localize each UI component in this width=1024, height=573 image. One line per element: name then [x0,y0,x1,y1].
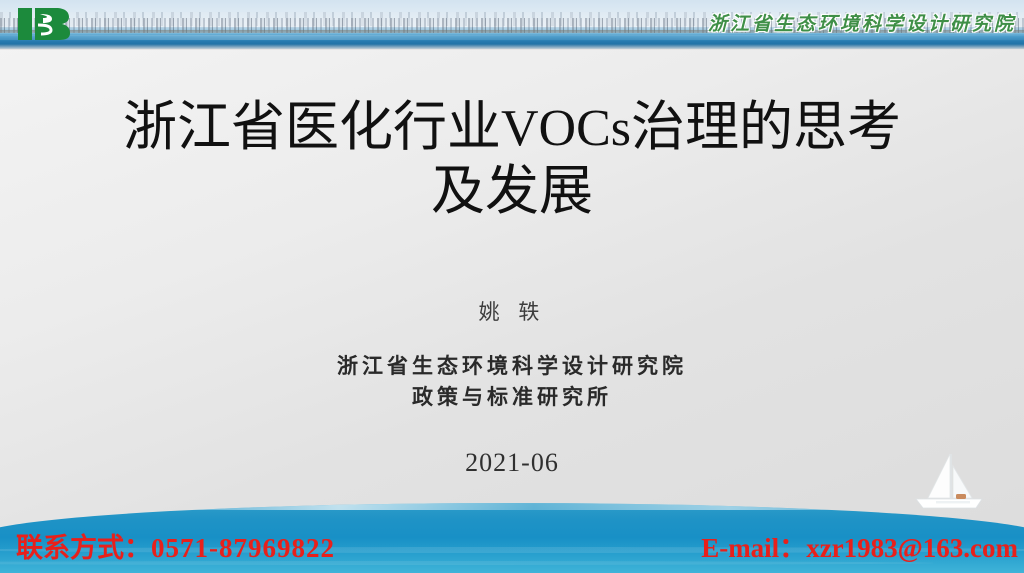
slide-title: 浙江省医化行业VOCs治理的思考 及发展 [0,96,1024,222]
banner-institution-name: 浙江省生态环境科学设计研究院 [708,9,1016,36]
footer-contact-label: 联系方式： [16,533,151,564]
zjeps-logo [16,5,72,43]
title-line-1: 浙江省医化行业VOCs治理的思考 [0,96,1024,160]
author-name: 姚 轶 [0,296,1024,326]
header-banner: 浙江省生态环境科学设计研究院 [0,0,1024,49]
banner-bottom-fade [0,44,1024,50]
presentation-date: 2021-06 [0,448,1024,478]
title-slide: 浙江省生态环境科学设计研究院 浙江省医化行业VOCs治理的思考 及发展 姚 轶 … [0,0,1024,573]
title-line1-latin: VOCs [501,100,631,157]
title-line1-part1: 浙江省医化行业 [123,95,501,158]
affiliation-line-1: 浙江省生态环境科学设计研究院 [0,350,1024,381]
affiliation-line-2: 政策与标准研究所 [0,381,1024,412]
footer-contact: 联系方式：0571-87969822 [16,526,335,565]
footer-email-address: xzr1983@163.com [806,533,1018,563]
author-block: 姚 轶 浙江省生态环境科学设计研究院 政策与标准研究所 [0,296,1024,412]
footer-contact-phone: 0571-87969822 [151,533,335,563]
title-line1-part2: 治理的思考 [631,95,901,158]
title-line-2: 及发展 [0,160,1024,222]
sailboat-icon [906,452,992,518]
footer-foam-line [0,503,1024,510]
footer-email: E-mail：xzr1983@163.com [701,526,1018,565]
footer-email-label: E-mail： [701,533,806,563]
